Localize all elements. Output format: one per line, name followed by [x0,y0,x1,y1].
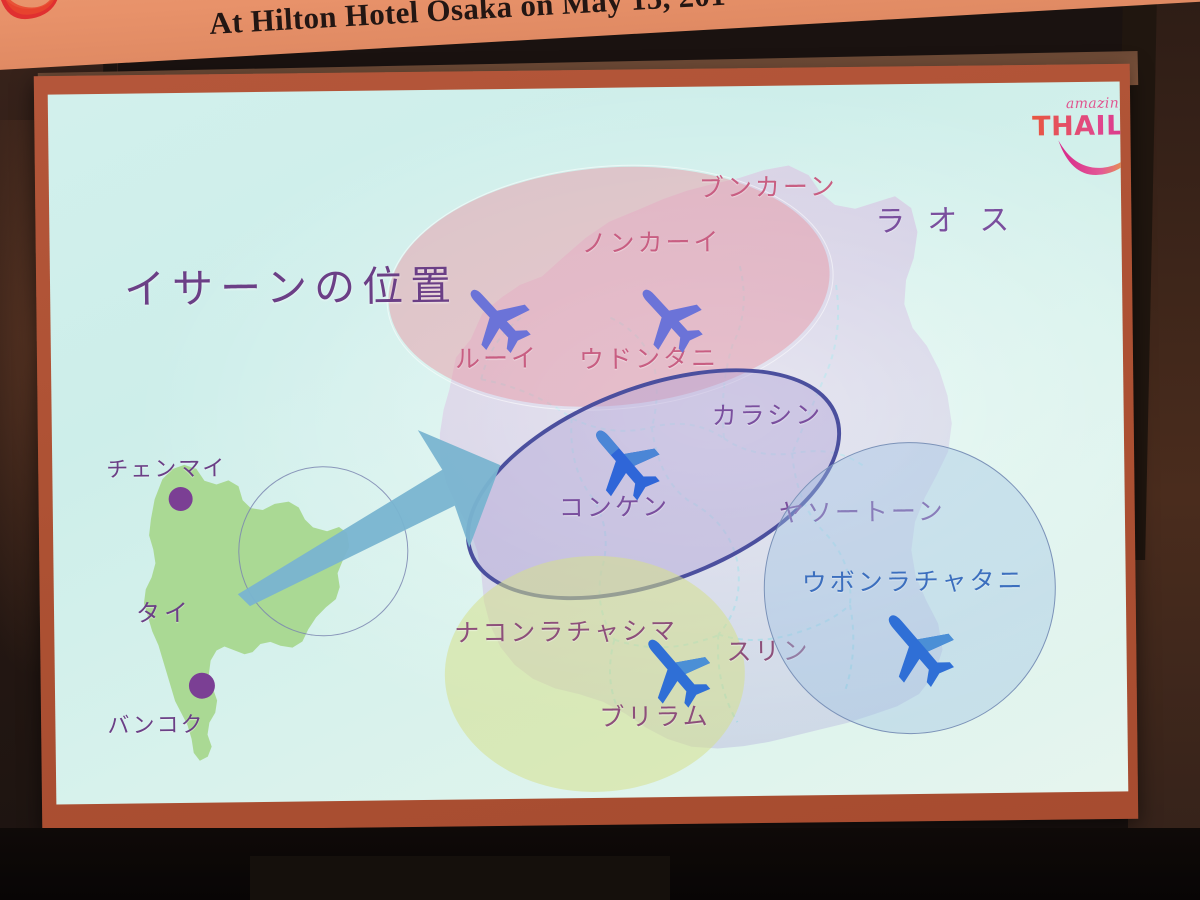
city-label-bangkok: バンコク [107,707,204,740]
province-label-bueng-kan: ブンカーン [699,167,838,205]
amazing-thailand-logo: amazing THAILAND [1030,95,1128,175]
country-label-thailand: タイ [136,593,192,629]
city-label-chiang-mai: チェンマイ [106,450,226,483]
province-label-ubon-ratchathani: ウボンラチャタニ [801,561,1025,600]
presentation-slide: ブンカーン ノンカーイ ルーイ ウドンタニ カラシン コンケン ヤソートーン [48,81,1129,804]
amazing-thailand-swoosh-icon [0,0,68,30]
airplane-icon [872,602,957,683]
page-title: イサーンの位置 [124,252,459,316]
city-dot-chiang-mai [169,487,193,511]
floor-object [250,856,670,900]
airplane-icon [456,277,533,350]
photo-of-projection-screen: ブンカーン ノンカーイ ルーイ ウドンタニ カラシン コンケン ヤソートーン [0,0,1200,900]
banner-title: At Hilton Hotel Osaka on May 15, 201 [208,0,726,42]
airplane-icon [632,626,713,703]
province-label-nong-khai: ノンカーイ [581,222,721,260]
country-label-laos: ラオス [875,195,1032,241]
arrow-up-right-icon [230,407,532,611]
thailand-swoosh-icon [1054,137,1128,175]
province-label-kalasin: カラシン [711,395,823,432]
airplane-icon [580,417,663,496]
airplane-icon [628,277,705,350]
